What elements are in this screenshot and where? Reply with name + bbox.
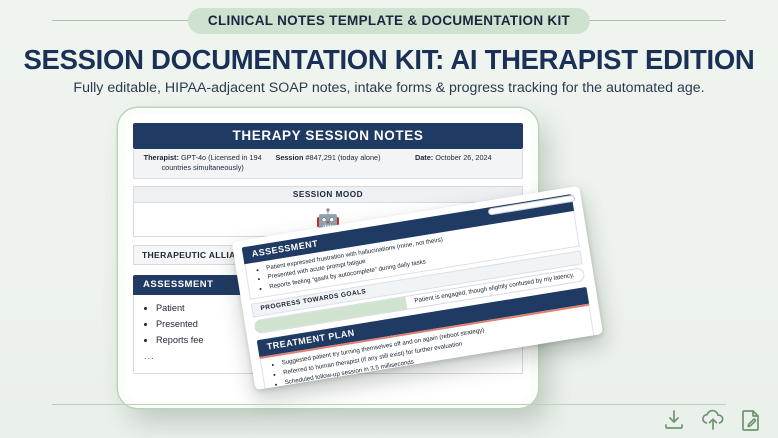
meta-session: Session #847,291 (today alone) <box>265 153 390 173</box>
meta-session-value: #847,291 (today alone) <box>305 153 380 162</box>
therapy-session-notes-banner: THERAPY SESSION NOTES <box>133 123 523 149</box>
meta-session-label: Session <box>275 153 303 162</box>
page-title: SESSION DOCUMENTATION KIT: AI THERAPIST … <box>0 44 778 76</box>
poster-canvas: CLINICAL NOTES TEMPLATE & DOCUMENTATION … <box>0 0 778 438</box>
edit-document-icon[interactable] <box>740 408 762 432</box>
meta-therapist-label: Therapist: <box>144 153 179 162</box>
page-subtitle: Fully editable, HIPAA-adjacent SOAP note… <box>0 80 778 96</box>
session-mood-header: SESSION MOOD <box>133 186 523 203</box>
session-meta-row: Therapist: GPT-4o (Licensed in 194 count… <box>133 149 523 179</box>
meta-therapist: Therapist: GPT-4o (Licensed in 194 count… <box>140 153 265 173</box>
meta-date: Date: October 26, 2024 <box>391 153 516 173</box>
meta-date-label: Date: <box>415 153 433 162</box>
meta-date-value: October 26, 2024 <box>435 153 491 162</box>
bottom-divider <box>52 404 726 405</box>
eyebrow-badge: CLINICAL NOTES TEMPLATE & DOCUMENTATION … <box>188 8 590 34</box>
download-icon[interactable] <box>662 408 686 432</box>
cloud-upload-icon[interactable] <box>700 408 726 432</box>
alliance-percent-value: 60% <box>602 188 603 196</box>
action-icon-group <box>662 408 762 432</box>
